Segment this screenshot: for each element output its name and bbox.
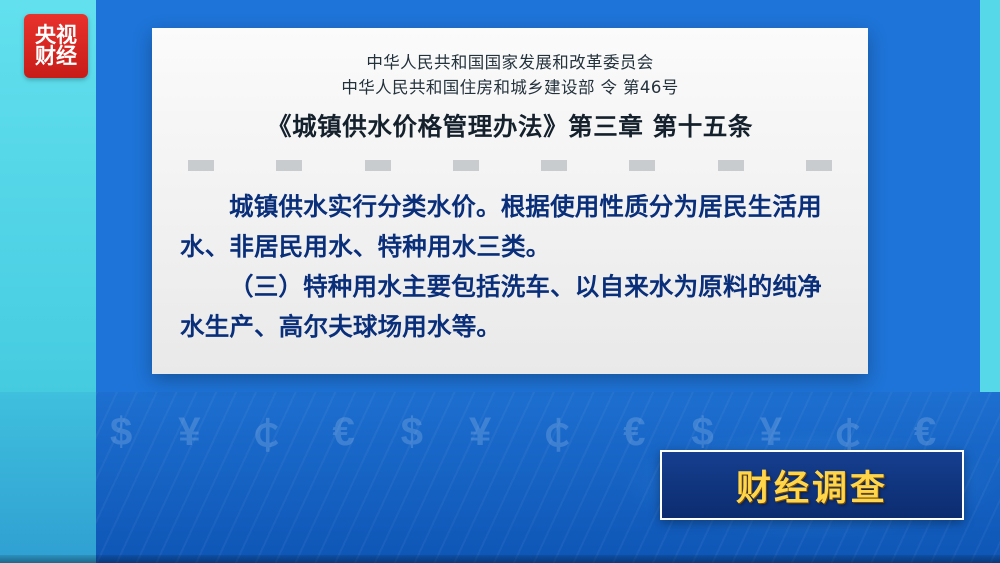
divider-dash bbox=[453, 160, 479, 171]
divider-dash bbox=[188, 160, 214, 171]
document-card-inner: 中华人民共和国国家发展和改革委员会 中华人民共和国住房和城乡建设部 令 第46号… bbox=[152, 28, 868, 374]
background-lower-left-strip bbox=[0, 392, 96, 563]
divider-dash bbox=[365, 160, 391, 171]
program-badge-label: 财经调查 bbox=[736, 460, 888, 511]
background-right-cyan-strip bbox=[980, 0, 1000, 392]
document-paragraph: 城镇供水实行分类水价。根据使用性质分为居民生活用水、非居民用水、特种用水三类。 bbox=[180, 187, 840, 267]
document-card: 中华人民共和国国家发展和改革委员会 中华人民共和国住房和城乡建设部 令 第46号… bbox=[152, 28, 868, 374]
channel-logo-label: 央视财经 bbox=[34, 25, 78, 68]
channel-logo: 央视财经 bbox=[24, 14, 88, 78]
document-org-line-2: 中华人民共和国住房和城乡建设部 令 第46号 bbox=[180, 75, 840, 100]
divider-dash bbox=[629, 160, 655, 171]
document-org-line-1: 中华人民共和国国家发展和改革委员会 bbox=[180, 50, 840, 75]
document-body: 城镇供水实行分类水价。根据使用性质分为居民生活用水、非居民用水、特种用水三类。 … bbox=[180, 187, 840, 347]
document-paragraph: （三）特种用水主要包括洗车、以自来水为原料的纯净水生产、高尔夫球场用水等。 bbox=[180, 267, 840, 347]
divider-dash bbox=[718, 160, 744, 171]
document-dashed-divider bbox=[188, 159, 832, 171]
divider-dash bbox=[276, 160, 302, 171]
broadcast-screen: $ ¥ ￠ € $ ¥ ￠ € $ ¥ ￠ € 央视财经 中华人民共和国国家发展… bbox=[0, 0, 1000, 563]
document-title: 《城镇供水价格管理办法》第三章 第十五条 bbox=[180, 108, 840, 143]
bottom-edge-shadow bbox=[0, 555, 1000, 563]
divider-dash bbox=[541, 160, 567, 171]
program-badge: 财经调查 bbox=[660, 450, 964, 520]
divider-dash bbox=[806, 160, 832, 171]
